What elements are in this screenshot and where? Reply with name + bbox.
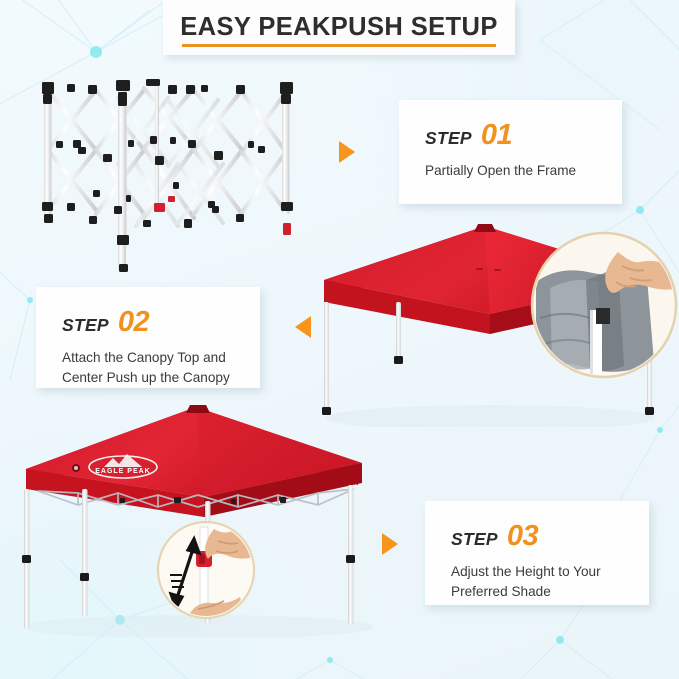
step-card-01: STEP 01 Partially Open the Frame — [399, 100, 622, 204]
step-description: Partially Open the Frame — [425, 161, 596, 181]
step-number: 03 — [507, 523, 538, 549]
step-heading: STEP 03 — [451, 523, 623, 550]
step-card-02: STEP 02 Attach the Canopy Top and Center… — [36, 287, 260, 388]
arrow-right-icon-step-01 — [339, 141, 355, 163]
illustration-partially-open-frame — [18, 68, 318, 273]
step-description: Adjust the Height to Your Preferred Shad… — [451, 562, 623, 602]
step-label: STEP — [62, 315, 109, 336]
step-label: STEP — [425, 128, 472, 149]
page-title-box: EASY PEAKPUSH SETUP — [163, 0, 515, 55]
step-number: 01 — [481, 122, 512, 148]
step-heading: STEP 01 — [425, 122, 596, 149]
title-underline — [182, 44, 495, 47]
svg-text:EAGLE PEAK: EAGLE PEAK — [95, 468, 151, 475]
step-card-03: STEP 03 Adjust the Height to Your Prefer… — [425, 501, 649, 605]
step-heading: STEP 02 — [62, 309, 234, 336]
callout-fabric — [532, 233, 679, 380]
step-number: 02 — [118, 309, 149, 335]
illustration-canopy-raised: EAGLE PEAK — [18, 405, 400, 637]
illustration-canopy-top-attached — [300, 222, 679, 427]
page-title: EASY PEAKPUSH SETUP — [180, 15, 497, 41]
infographic-canvas: EASY PEAKPUSH SETUP — [0, 0, 679, 679]
step-label: STEP — [451, 529, 498, 550]
step-description: Attach the Canopy Top and Center Push up… — [62, 348, 234, 388]
arrow-left-icon-step-02 — [295, 316, 311, 338]
arrow-right-icon-step-03 — [382, 533, 398, 555]
